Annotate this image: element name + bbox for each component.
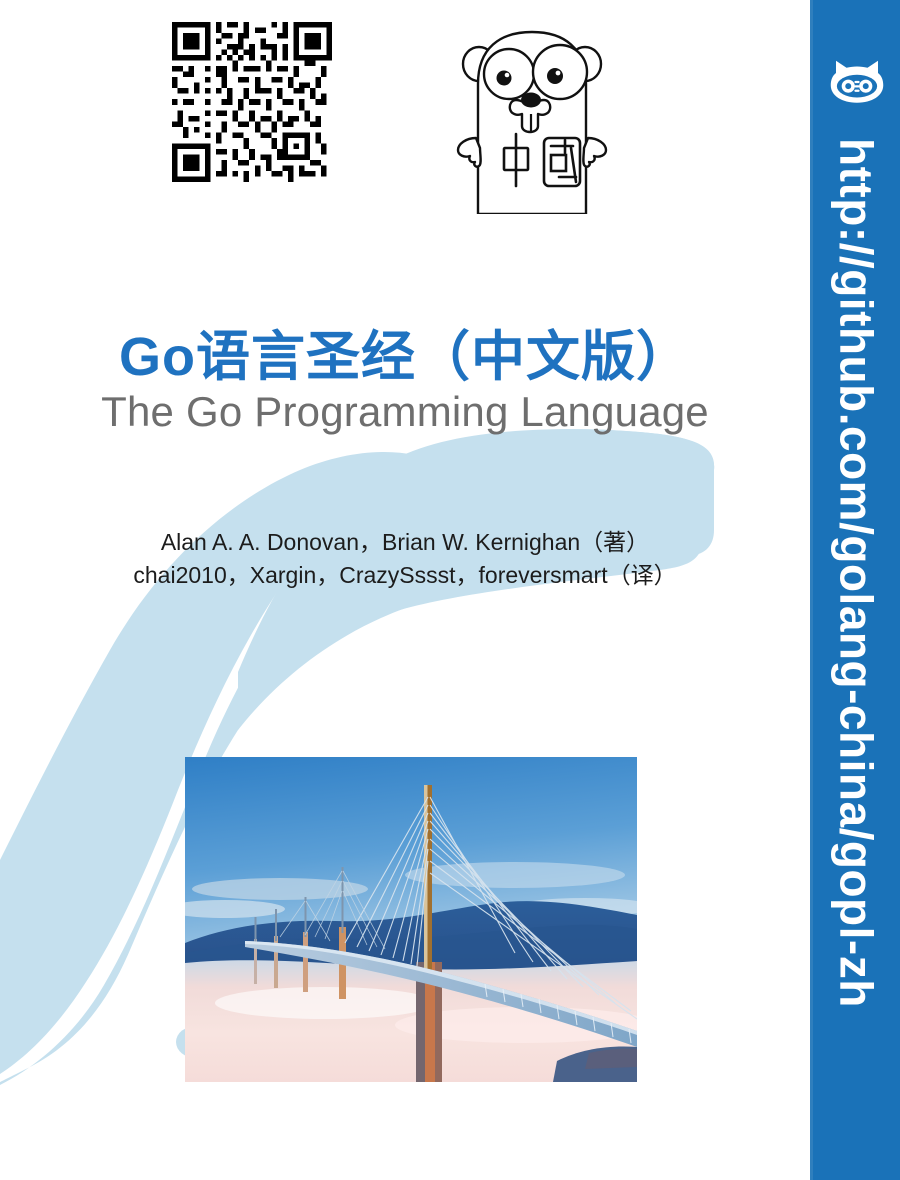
millau-viaduct-bridge-photo <box>185 757 637 1082</box>
go-gopher-mascot <box>452 22 612 214</box>
github-side-band: http://github.com/golang-china/gopl-zh <box>810 0 900 1180</box>
qr-code[interactable] <box>172 22 332 182</box>
authors-line: Alan A. A. Donovan，Brian W. Kernighan（著） <box>0 526 810 559</box>
authors-block: Alan A. A. Donovan，Brian W. Kernighan（著）… <box>0 526 810 593</box>
repository-url[interactable]: http://github.com/golang-china/gopl-zh <box>834 138 880 1008</box>
translators-line: chai2010，Xargin，CrazySssst，foreversmart（… <box>0 559 810 592</box>
page-title-zh: Go语言圣经（中文版） <box>0 312 810 391</box>
github-octocat-logo <box>829 52 885 108</box>
book-cover: Go语言圣经（中文版） The Go Programming Language … <box>0 0 900 1180</box>
page-title-en: The Go Programming Language <box>0 388 810 436</box>
